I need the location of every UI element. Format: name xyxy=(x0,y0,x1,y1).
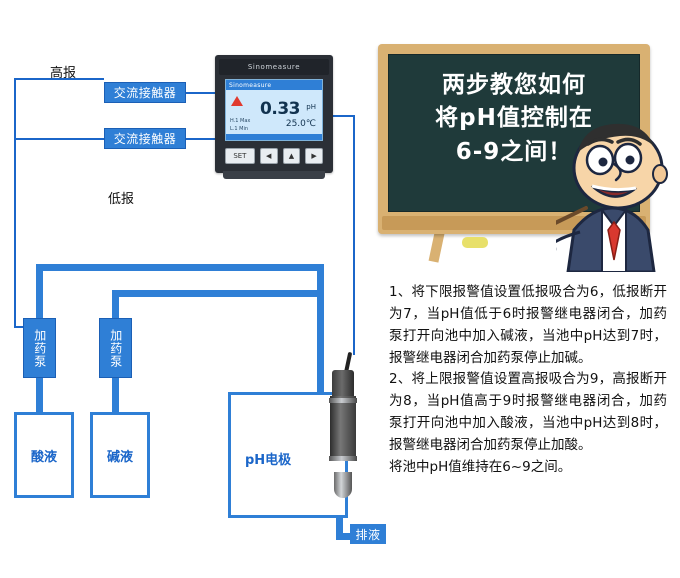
teacher-cartoon xyxy=(556,112,680,272)
controller-base xyxy=(223,171,325,179)
key-set[interactable]: SET xyxy=(225,148,255,164)
warning-triangle-icon xyxy=(231,96,243,106)
acid-tank: 酸液 xyxy=(14,412,74,498)
ph-electrode-ring-top xyxy=(329,398,357,403)
ph-electrode-body xyxy=(330,396,356,458)
ph-electrode-ring-bottom xyxy=(329,456,357,461)
ph-electrode-tip xyxy=(334,472,352,498)
dosing-pump-2-box[interactable]: 加药泵 xyxy=(99,318,132,378)
controller-brand: Sinomeasure xyxy=(219,59,329,75)
wire-right-vertical xyxy=(353,115,355,355)
screen-minmax-text: H.1 Max L.1 Min xyxy=(230,118,250,133)
instruction-paragraph-1: 1、将下限报警值设置低报吸合为6，低报断开为7，当pH值低于6时报警继电器闭合，… xyxy=(389,282,667,369)
controller-screen: Sinomeasure H.1 Max L.1 Min 0.33 pH 25.0… xyxy=(225,79,323,141)
pipe-upper-horizontal xyxy=(36,264,324,271)
blackboard-line-1: 两步教您如何 xyxy=(389,69,639,102)
ph-electrode-head xyxy=(332,370,354,398)
key-left[interactable]: ◀ xyxy=(260,148,278,164)
ph-controller[interactable]: Sinomeasure Sinomeasure H.1 Max L.1 Min … xyxy=(215,55,333,173)
pipe-second-horizontal xyxy=(112,290,324,297)
drain-label: 排液 xyxy=(350,524,386,544)
ph-unit: pH xyxy=(306,103,316,111)
wire-low-alarm-branch xyxy=(14,138,104,140)
sponge-eraser-icon xyxy=(462,237,488,248)
screen-title: Sinomeasure xyxy=(226,80,322,90)
contactor-1-box[interactable]: 交流接触器 xyxy=(104,82,186,103)
contactor-2-box[interactable]: 交流接触器 xyxy=(104,128,186,149)
ph-value: 0.33 xyxy=(260,99,300,119)
screen-bottom-bar xyxy=(226,134,322,141)
pipe-pump1-riser xyxy=(36,264,43,322)
temperature-value: 25.0℃ xyxy=(286,119,316,129)
label-high-alarm: 高报 xyxy=(50,62,76,81)
screen-main-area: H.1 Max L.1 Min 0.33 pH 25.0℃ xyxy=(226,90,322,141)
key-right[interactable]: ▶ xyxy=(305,148,323,164)
label-low-alarm: 低报 xyxy=(108,188,134,207)
temperature-number: 25.0 xyxy=(286,119,306,129)
key-up[interactable]: ▲ xyxy=(283,148,301,164)
wire-controller-right xyxy=(333,115,355,117)
ph-electrode-label: pH电极 xyxy=(245,449,291,468)
pipe-pump1-to-acid-tank xyxy=(36,378,43,414)
instructions-block: 1、将下限报警值设置低报吸合为6，低报断开为7，当pH值低于6时报警继电器闭合，… xyxy=(389,282,667,479)
controller-keypad[interactable]: SET ◀ ▲ ▶ xyxy=(225,147,323,165)
wire-contactor1-to-controller xyxy=(186,92,216,94)
dosing-pump-1-box[interactable]: 加药泵 xyxy=(23,318,56,378)
diagram-canvas: 高报 低报 交流接触器 交流接触器 加药泵 加药泵 酸液 碱液 pH电极 排液 … xyxy=(0,0,680,578)
temperature-unit: ℃ xyxy=(306,119,316,129)
instruction-paragraph-2: 2、将上限报警值设置高报吸合为9，高报断开为8，当pH值高于9时报警继电器闭合，… xyxy=(389,369,667,456)
wire-left-vertical-main xyxy=(14,78,16,328)
instruction-paragraph-3: 将池中pH值维持在6~9之间。 xyxy=(389,457,667,479)
pipe-pump2-to-alkali-tank xyxy=(112,378,119,414)
alkali-tank: 碱液 xyxy=(90,412,150,498)
